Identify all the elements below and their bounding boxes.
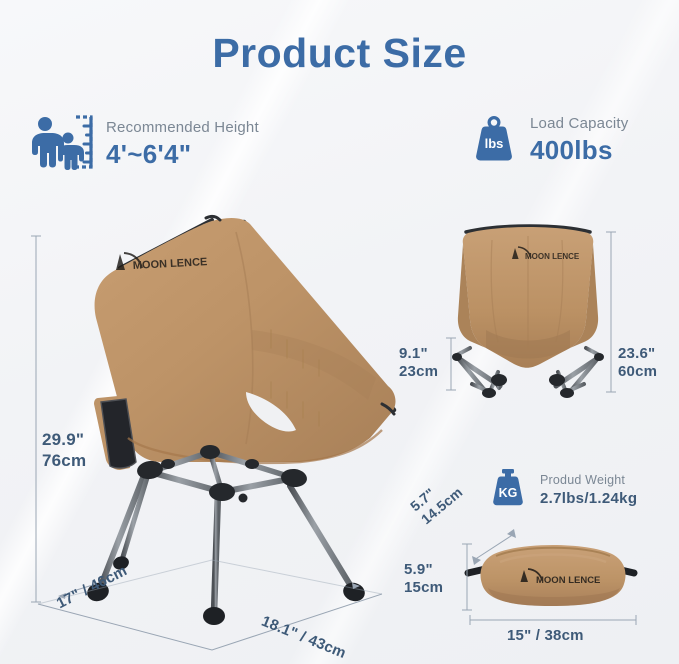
svg-text:MOON LENCE: MOON LENCE	[525, 252, 580, 261]
brand-logo-bag: MOON LENCE	[521, 569, 601, 586]
page-title: Product Size	[0, 30, 679, 77]
dimension-chair-width: 18.1" / 43cm	[259, 613, 349, 664]
front-view-chair-illustration: MOON LENCE	[452, 226, 604, 398]
carry-bag-illustration: MOON LENCE	[468, 545, 634, 606]
brand-logo-front: MOON LENCE	[512, 247, 580, 261]
feature-recommended-height: Recommended Height 4'~6'4"	[28, 112, 259, 177]
brand-logo-main: MOON LENCE	[116, 253, 208, 272]
product-illustrations: MOON LENCE MOON LENCE	[0, 0, 679, 664]
main-chair-illustration: MOON LENCE	[85, 216, 396, 625]
feature-value: 4'~6'4"	[106, 140, 259, 169]
svg-text:MOON LENCE: MOON LENCE	[536, 575, 600, 586]
weight-lbs-icon: lbs	[470, 112, 518, 169]
dimension-back-height: 23.6" 60cm	[618, 345, 657, 382]
dimension-value-cm: 76cm	[42, 451, 86, 472]
feature-value: 2.7lbs/1.24kg	[540, 491, 637, 508]
feature-text-block: Recommended Height 4'~6'4"	[106, 120, 259, 168]
weight-icon-text: KG	[499, 486, 518, 500]
feature-value: 400lbs	[530, 136, 629, 165]
svg-text:MOON LENCE: MOON LENCE	[133, 256, 208, 272]
feature-label: Recommended Height	[106, 120, 259, 137]
feature-text-block: Produd Weight 2.7lbs/1.24kg	[540, 474, 637, 507]
feature-label: Load Capacity	[530, 116, 629, 133]
feature-text-block: Load Capacity 400lbs	[530, 116, 629, 164]
dimension-guides	[31, 232, 636, 650]
dimension-chair-height: 29.9" 76cm	[42, 430, 86, 471]
dimension-bag-height: 5.9" 15cm	[404, 561, 443, 598]
dimension-value-cm: 15cm	[404, 579, 443, 597]
dimension-value-inch: 23.6"	[618, 345, 657, 363]
dimension-bag-depth: 5.7" 14.5cm	[407, 471, 466, 528]
dimension-bag-width: 15" / 38cm	[507, 627, 584, 645]
dimension-seat-height: 9.1" 23cm	[399, 345, 438, 382]
dimension-value-inch: 9.1"	[399, 345, 438, 363]
feature-load-capacity: lbs Load Capacity 400lbs	[470, 112, 629, 169]
dimension-value-inch: 5.9"	[404, 561, 443, 579]
dimension-value-cm: 60cm	[618, 363, 657, 381]
weight-kg-icon: KG	[488, 466, 528, 515]
infographic-canvas: Product Size Recommended H	[0, 0, 679, 664]
feature-label: Produd Weight	[540, 474, 637, 488]
feature-product-weight: KG Produd Weight 2.7lbs/1.24kg	[488, 466, 637, 515]
people-height-icon	[28, 112, 94, 177]
dimension-value-cm: 23cm	[399, 363, 438, 381]
dimension-value-inch: 29.9"	[42, 430, 86, 451]
dimension-chair-depth: 17" / 46cm	[54, 562, 131, 613]
weight-icon-text: lbs	[485, 136, 504, 151]
